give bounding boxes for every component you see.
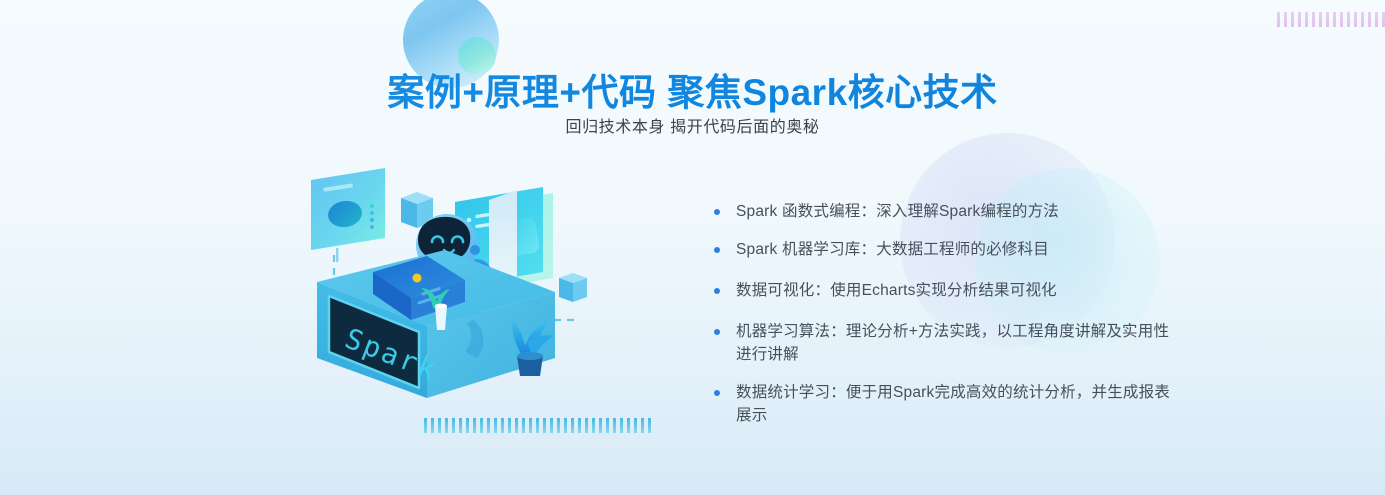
tick-mark [564, 418, 567, 433]
tick-mark [1361, 12, 1364, 27]
tick-mark [1326, 12, 1329, 27]
tick-mark [466, 418, 469, 433]
tick-mark [585, 418, 588, 433]
tick-mark [592, 418, 595, 433]
tick-mark [1340, 12, 1343, 27]
feature-item: 数据统计学习：便于用Spark完成高效的统计分析，并生成报表展示 [714, 381, 1184, 427]
tick-mark [431, 418, 434, 433]
tick-mark [613, 418, 616, 433]
tick-mark [487, 418, 490, 433]
bullet-dot-icon [714, 329, 720, 335]
feature-item-label: Spark 函数式编程：深入理解Spark编程的方法 [736, 200, 1184, 223]
bullet-dot-icon [714, 390, 720, 396]
bullet-dot-icon [714, 288, 720, 294]
tick-mark [1277, 12, 1280, 27]
feature-item-label: 机器学习算法：理论分析+方法实践，以工程角度讲解及实用性进行讲解 [736, 320, 1184, 366]
feature-item: 数据可视化：使用Echarts实现分析结果可视化 [714, 279, 1184, 302]
bullet-dot-icon [714, 209, 720, 215]
tick-mark [1354, 12, 1357, 27]
laptop-indicator [413, 274, 422, 283]
tick-mark [606, 418, 609, 433]
tick-mark [501, 418, 504, 433]
tick-mark [557, 418, 560, 433]
tick-mark [494, 418, 497, 433]
tick-mark [536, 418, 539, 433]
tick-mark [641, 418, 644, 433]
tick-mark [648, 418, 651, 433]
feature-item: Spark 机器学习库：大数据工程师的必修科目 [714, 238, 1184, 261]
feature-item: Spark 函数式编程：深入理解Spark编程的方法 [714, 200, 1184, 223]
tick-mark [550, 418, 553, 433]
tick-mark [515, 418, 518, 433]
tick-mark [1284, 12, 1287, 27]
tick-mark [627, 418, 630, 433]
page-title: 案例+原理+代码 聚焦Spark核心技术 [0, 62, 1385, 116]
feature-item-label: 数据统计学习：便于用Spark完成高效的统计分析，并生成报表展示 [736, 381, 1184, 427]
tick-mark [480, 418, 483, 433]
feature-item-label: Spark 机器学习库：大数据工程师的必修科目 [736, 238, 1184, 261]
tick-mark [620, 418, 623, 433]
tick-mark [1312, 12, 1315, 27]
tick-mark [522, 418, 525, 433]
tick-mark [508, 418, 511, 433]
tick-mark [634, 418, 637, 433]
left-floating-screen [311, 168, 385, 262]
tick-mark [445, 418, 448, 433]
feature-item: 机器学习算法：理论分析+方法实践，以工程角度讲解及实用性进行讲解 [714, 320, 1184, 366]
tick-mark [1375, 12, 1378, 27]
tick-mark [1368, 12, 1371, 27]
decorative-tick-row-topright [1277, 12, 1385, 27]
decorative-tick-row-baseline [424, 417, 654, 433]
bullet-dot-icon [714, 247, 720, 253]
tick-mark [578, 418, 581, 433]
tick-mark [599, 418, 602, 433]
tick-mark [1305, 12, 1308, 27]
tick-mark [1333, 12, 1336, 27]
tick-mark [438, 418, 441, 433]
feature-item-label: 数据可视化：使用Echarts实现分析结果可视化 [736, 279, 1184, 302]
promo-banner: 案例+原理+代码 聚焦Spark核心技术 回归技术本身 揭开代码后面的奥秘 [0, 0, 1385, 495]
cube-right-upper [559, 273, 587, 302]
hero-illustration: Spark [305, 160, 680, 450]
tick-mark [452, 418, 455, 433]
tick-mark [1291, 12, 1294, 27]
tick-mark [1319, 12, 1322, 27]
tick-mark [424, 418, 427, 433]
tick-mark [571, 418, 574, 433]
tick-mark [529, 418, 532, 433]
tick-mark [1298, 12, 1301, 27]
feature-list: Spark 函数式编程：深入理解Spark编程的方法Spark 机器学习库：大数… [714, 200, 1184, 442]
page-subtitle: 回归技术本身 揭开代码后面的奥秘 [0, 113, 1385, 137]
tick-mark [1347, 12, 1350, 27]
tick-mark [459, 418, 462, 433]
tick-mark [473, 418, 476, 433]
tick-mark [543, 418, 546, 433]
